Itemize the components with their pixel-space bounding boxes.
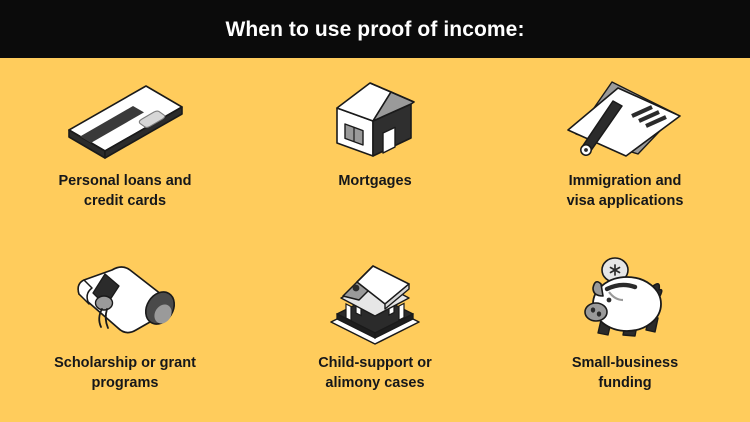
header-band: When to use proof of income: [0, 0, 750, 58]
use-case-label: Immigration and visa applications [520, 172, 730, 211]
use-case-grid: Personal loans and credit cards [0, 58, 750, 422]
house-icon [310, 74, 440, 160]
credit-card-icon [60, 74, 190, 160]
use-case-item-scholarship: Scholarship or grant programs [0, 240, 250, 422]
use-case-item-immigration: Immigration and visa applications [500, 58, 750, 240]
use-case-label: Child-support or alimony cases [270, 354, 480, 393]
use-case-label: Scholarship or grant programs [20, 354, 230, 393]
use-case-label: Small-business funding [520, 354, 730, 393]
use-case-item-child-support: Child-support or alimony cases [250, 240, 500, 422]
piggy-bank-icon [560, 256, 690, 342]
diploma-scroll-icon [60, 256, 190, 342]
use-case-item-mortgages: Mortgages [250, 58, 500, 240]
proof-of-income-infographic: When to use proof of income: [0, 0, 750, 422]
use-case-label: Personal loans and credit cards [20, 172, 230, 211]
page-title: When to use proof of income: [225, 19, 524, 40]
use-case-item-small-business: Small-business funding [500, 240, 750, 422]
use-case-item-personal-loans: Personal loans and credit cards [0, 58, 250, 240]
use-case-label: Mortgages [270, 172, 480, 192]
document-with-pen-icon [560, 74, 690, 160]
courthouse-icon [310, 256, 440, 342]
